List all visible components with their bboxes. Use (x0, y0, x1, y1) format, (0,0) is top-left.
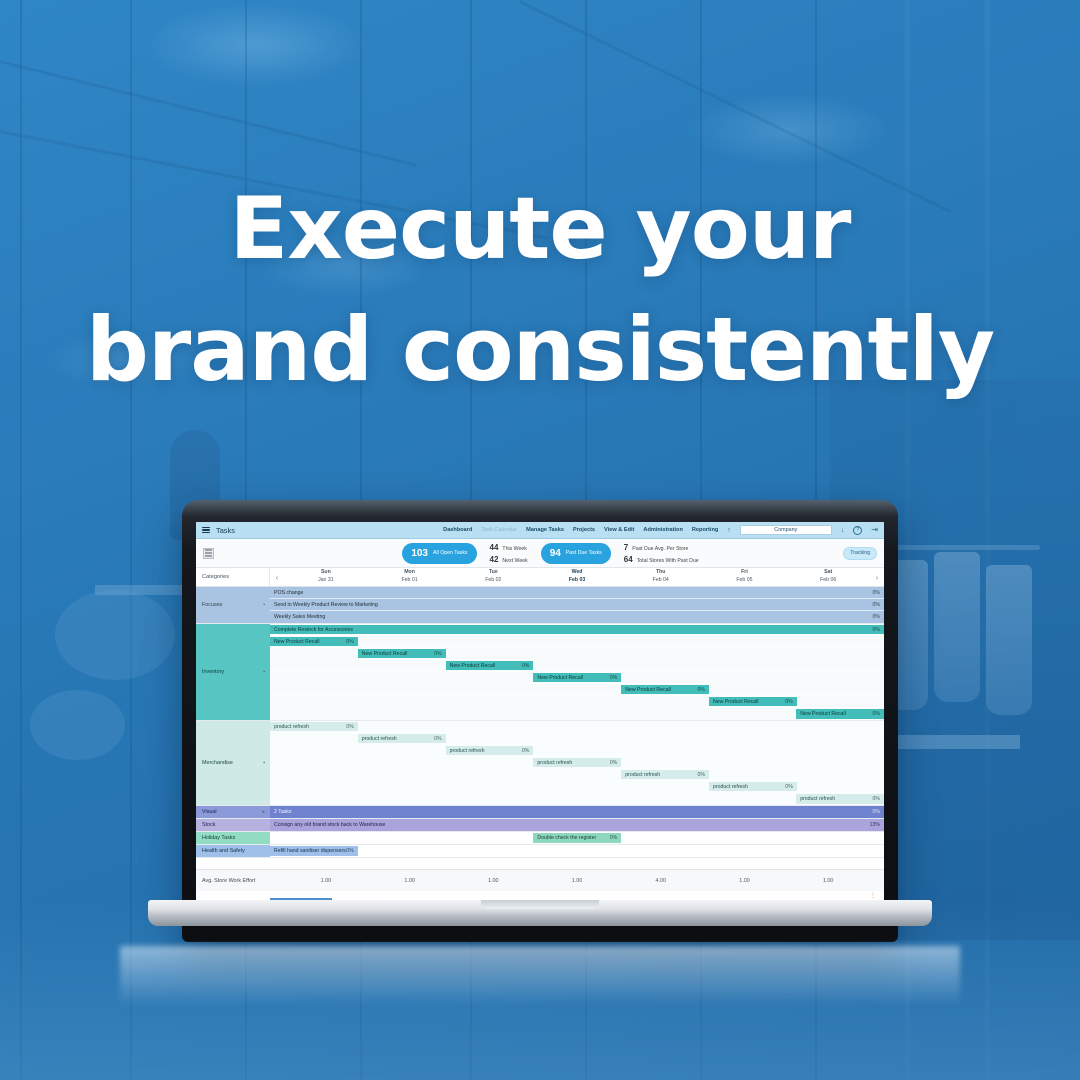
task-progress: 0% (873, 627, 881, 633)
kpi-total-stores-label: Total Stores With Past Due (637, 558, 699, 564)
info-marker-icon: ⋮ (870, 892, 876, 899)
category-expand-icon[interactable]: ▸ (262, 809, 265, 815)
task-lane: product refresh0% (270, 745, 884, 757)
day-name: Mon (404, 569, 415, 577)
day-headers: SunJan 31MonFeb 01TueFeb 02WedFeb 03ThuF… (284, 568, 870, 586)
task-label: Consign any old brand stock back to Ware… (274, 822, 385, 828)
task-bar[interactable]: POS change0% (270, 588, 884, 597)
task-lane: product refresh0% (270, 793, 884, 805)
task-bar[interactable]: product refresh0% (446, 746, 534, 755)
hamburger-icon[interactable] (202, 527, 210, 533)
kpi-next-week-label: Next Week (502, 558, 527, 564)
effort-values: 1.001.001.001.004.001.001.00 (284, 878, 870, 884)
task-progress: 0% (346, 639, 354, 645)
task-lane: New Product Recall0% (270, 708, 884, 720)
task-bar[interactable]: New Product Recall0% (446, 661, 534, 670)
category-expand-icon[interactable]: ▪ (263, 602, 265, 608)
kpi-week-stack: 44 This Week 42 Next Week (490, 543, 528, 564)
task-bar[interactable]: Consign any old brand stock back to Ware… (270, 820, 884, 830)
app-title: Tasks (216, 526, 235, 535)
nav-item-projects[interactable]: Projects (573, 527, 595, 533)
task-label: product refresh (450, 748, 485, 754)
task-label: New Product Recall (450, 663, 496, 669)
main-navigation: Dashboard Task Calendar Manage Tasks Pro… (443, 525, 878, 535)
category-name: Visual (202, 809, 217, 815)
task-bar[interactable]: Complete Restock for Accessories0% (270, 625, 884, 634)
day-header-wed[interactable]: WedFeb 03 (535, 568, 619, 586)
lane-group: Refill hand sanitiser dispensers0% (270, 845, 884, 857)
kpi-past-due-avg-value: 7 (624, 543, 628, 552)
category-name: Focuses (202, 602, 222, 608)
task-label: product refresh (274, 724, 309, 730)
category-row-health-and-safety: Health and SafetyRefill hand sanitiser d… (196, 845, 884, 858)
category-row-inventory: Inventory▪Complete Restock for Accessori… (196, 624, 884, 721)
day-header-sat[interactable]: SatFeb 06 (786, 568, 870, 586)
day-header-thu[interactable]: ThuFeb 04 (619, 568, 703, 586)
task-bar[interactable]: product refresh0% (358, 734, 446, 743)
effort-value: 1.00 (284, 878, 368, 884)
task-lane: Consign any old brand stock back to Ware… (270, 819, 884, 831)
kpi-this-week-value: 44 (490, 543, 499, 552)
chevron-left-icon[interactable]: ‹ (270, 568, 284, 586)
task-bar[interactable]: New Product Recall0% (796, 709, 884, 719)
category-label-health-and-safety[interactable]: Health and Safety (196, 845, 270, 857)
kpi-open-tasks-value: 103 (411, 548, 428, 559)
laptop-mockup: Tasks Dashboard Task Calendar Manage Tas… (182, 500, 898, 942)
task-label: Double check the register (537, 835, 596, 841)
laptop-reflection (120, 946, 960, 1006)
day-date: Feb 02 (485, 577, 501, 585)
kpi-open-tasks-label: All Open Tasks (433, 550, 468, 556)
day-name: Tue (489, 569, 498, 577)
arrow-down-icon[interactable]: ↓ (841, 527, 845, 534)
day-date: Feb 01 (402, 577, 418, 585)
laptop-base (148, 900, 932, 926)
task-progress: 0% (873, 590, 881, 596)
task-label: New Product Recall (274, 639, 320, 645)
categories-column-header: Categories (196, 568, 270, 586)
task-bar[interactable]: product refresh0% (796, 794, 884, 804)
day-name: Thu (656, 569, 666, 577)
app-header: Tasks Dashboard Task Calendar Manage Tas… (196, 522, 884, 539)
kpi-past-due-value: 94 (550, 548, 561, 559)
lane-group: Consign any old brand stock back to Ware… (270, 819, 884, 831)
task-label: Refill hand sanitiser dispensers (274, 848, 346, 854)
task-label: New Product Recall (713, 699, 759, 705)
chevron-right-icon[interactable]: › (870, 568, 884, 586)
lane-group: product refresh0%product refresh0%produc… (270, 721, 884, 805)
category-label-inventory[interactable]: Inventory▪ (196, 624, 270, 720)
kpi-total-stores: 64 Total Stores With Past Due (624, 555, 699, 564)
task-progress: 0% (785, 784, 793, 790)
day-date: Feb 03 (569, 577, 585, 585)
task-progress: 0% (785, 699, 793, 705)
task-bar[interactable]: Double check the register0% (533, 833, 621, 843)
day-header-sun[interactable]: SunJan 31 (284, 568, 368, 586)
laptop-screen: Tasks Dashboard Task Calendar Manage Tas… (196, 522, 884, 900)
effort-value: 1.00 (703, 878, 787, 884)
task-bar[interactable]: New Product Recall0% (709, 697, 797, 706)
task-lane: Send in Weekly Product Review to Marketi… (270, 599, 884, 611)
category-row-stock: StockConsign any old brand stock back to… (196, 819, 884, 832)
task-label: product refresh (362, 736, 397, 742)
task-label: New Product Recall (800, 711, 846, 717)
task-lane: New Product Recall0% (270, 684, 884, 696)
task-progress: 0% (698, 687, 706, 693)
day-name: Wed (572, 569, 583, 577)
headline-line-2: brand consistently (0, 289, 1080, 410)
task-bar[interactable]: product refresh0% (270, 722, 358, 731)
task-bar[interactable]: product refresh0% (533, 758, 621, 767)
category-name: Stock (202, 822, 215, 828)
page-title: Execute your brand consistently (0, 170, 1080, 410)
kpi-past-due-tasks[interactable]: 94 Past Due Tasks (541, 543, 611, 564)
arrow-up-icon[interactable]: ↑ (727, 527, 731, 534)
kpi-past-due-label: Past Due Tasks (566, 550, 602, 556)
lane-group: 2 Tasks0% (270, 806, 884, 818)
task-bar[interactable]: New Product Recall0% (358, 649, 446, 658)
question-mark-icon[interactable]: ? (853, 526, 862, 535)
effort-label: Avg. Store Work Effort (196, 878, 270, 884)
kpi-next-week: 42 Next Week (490, 555, 528, 564)
company-selector[interactable]: Company (740, 525, 832, 535)
nav-item-view-edit[interactable]: View & Edit (604, 527, 634, 533)
task-progress: 0% (610, 760, 618, 766)
kpi-past-due-avg-label: Past Due Avg. Per Store (632, 546, 688, 552)
day-header-mon[interactable]: MonFeb 01 (368, 568, 452, 586)
kpi-this-week-label: This Week (502, 546, 526, 552)
task-lane: product refresh0% (270, 721, 884, 733)
nav-item-dashboard[interactable]: Dashboard (443, 527, 472, 533)
category-row-holiday-tasks: Holiday TasksDouble check the register0% (196, 832, 884, 845)
task-lane: Weekly Sales Meeting0% (270, 611, 884, 623)
task-lane: New Product Recall0% (270, 636, 884, 648)
kpi-bar: 103 All Open Tasks 44 This Week 42 Next … (196, 539, 884, 568)
task-lane: POS change0% (270, 587, 884, 599)
laptop-lid: Tasks Dashboard Task Calendar Manage Tas… (182, 500, 898, 942)
category-name: Inventory (202, 669, 224, 675)
day-name: Fri (741, 569, 748, 577)
task-progress: 0% (873, 614, 881, 620)
task-progress: 0% (610, 675, 618, 681)
tracking-button[interactable]: Tracking (843, 547, 877, 560)
category-row-visual: Visual▸2 Tasks0% (196, 806, 884, 819)
task-label: Weekly Sales Meeting (274, 614, 325, 620)
task-bar[interactable]: 2 Tasks0% (270, 807, 884, 817)
task-bar[interactable]: product refresh0% (709, 782, 797, 791)
day-name: Sun (321, 569, 331, 577)
category-label-holiday-tasks[interactable]: Holiday Tasks (196, 832, 270, 844)
task-progress: 0% (872, 711, 880, 717)
task-lane: Double check the register0% (270, 832, 884, 844)
category-name: Merchandise (202, 760, 233, 766)
task-label: POS change (274, 590, 303, 596)
calendar-grid-icon[interactable] (203, 548, 214, 559)
task-bar[interactable]: New Product Recall0% (533, 673, 621, 682)
task-progress: 0% (346, 724, 354, 730)
day-date: Feb 05 (736, 577, 752, 585)
task-lane: product refresh0% (270, 757, 884, 769)
category-label-focuses[interactable]: Focuses▪ (196, 587, 270, 623)
task-label: New Product Recall (625, 687, 671, 693)
task-label: 2 Tasks (274, 809, 292, 815)
kpi-store-stack: 7 Past Due Avg. Per Store 64 Total Store… (624, 543, 699, 564)
task-label: product refresh (625, 772, 660, 778)
category-name: Holiday Tasks (202, 835, 235, 841)
task-lane: New Product Recall0% (270, 696, 884, 708)
kpi-next-week-value: 42 (490, 555, 499, 564)
task-progress: 0% (522, 663, 530, 669)
task-label: New Product Recall (537, 675, 583, 681)
effort-value: 1.00 (535, 878, 619, 884)
day-date: Feb 04 (653, 577, 669, 585)
task-label: product refresh (800, 796, 835, 802)
logout-icon[interactable]: ⇥ (871, 526, 878, 534)
lane-group: POS change0%Send in Weekly Product Revie… (270, 587, 884, 623)
nav-item-administration[interactable]: Administration (643, 527, 682, 533)
lane-group: Double check the register0% (270, 832, 884, 844)
category-expand-icon[interactable]: ▪ (263, 760, 265, 766)
category-label-stock[interactable]: Stock (196, 819, 270, 831)
nav-item-reporting[interactable]: Reporting (692, 527, 718, 533)
task-lane: Complete Restock for Accessories0% (270, 624, 884, 636)
kpi-group: 103 All Open Tasks 44 This Week 42 Next … (402, 543, 698, 564)
task-board: Focuses▪POS change0%Send in Weekly Produ… (196, 587, 884, 869)
effort-value: 1.00 (368, 878, 452, 884)
task-progress: 0% (873, 809, 881, 815)
task-calendar-app: Tasks Dashboard Task Calendar Manage Tas… (196, 522, 884, 900)
task-lane: product refresh0% (270, 781, 884, 793)
day-date: Feb 06 (820, 577, 836, 585)
calendar-header: Categories ‹ SunJan 31MonFeb 01TueFeb 02… (196, 568, 884, 587)
effort-value: 1.00 (786, 878, 870, 884)
task-progress: 0% (346, 848, 354, 854)
effort-value: 1.00 (451, 878, 535, 884)
task-progress: 0% (434, 651, 442, 657)
category-label-merchandise[interactable]: Merchandise▪ (196, 721, 270, 805)
day-header-tue[interactable]: TueFeb 02 (451, 568, 535, 586)
effort-value: 4.00 (619, 878, 703, 884)
task-bar[interactable]: Send in Weekly Product Review to Marketi… (270, 600, 884, 609)
kpi-past-due-avg: 7 Past Due Avg. Per Store (624, 543, 699, 552)
task-label: New Product Recall (362, 651, 408, 657)
nav-item-task-calendar[interactable]: Task Calendar (481, 527, 517, 533)
day-header-fri[interactable]: FriFeb 05 (703, 568, 787, 586)
kpi-all-open-tasks[interactable]: 103 All Open Tasks (402, 543, 476, 564)
task-bar[interactable]: product refresh0% (621, 770, 709, 779)
task-lane: 2 Tasks0% (270, 806, 884, 818)
task-bar[interactable]: Weekly Sales Meeting0% (270, 612, 884, 622)
task-lane: product refresh0% (270, 769, 884, 781)
task-progress: 0% (434, 736, 442, 742)
headline-line-1: Execute your (230, 179, 851, 279)
task-progress: 0% (522, 748, 530, 754)
task-progress: 0% (873, 602, 881, 608)
task-lane: New Product Recall0% (270, 648, 884, 660)
task-label: product refresh (713, 784, 748, 790)
category-name: Health and Safety (202, 848, 245, 854)
task-progress: 0% (698, 772, 706, 778)
lane-group: Complete Restock for Accessories0%New Pr… (270, 624, 884, 720)
task-bar[interactable]: New Product Recall0% (270, 637, 358, 646)
day-name: Sat (824, 569, 832, 577)
task-lane: Refill hand sanitiser dispensers0% (270, 845, 884, 857)
task-label: Complete Restock for Accessories (274, 627, 353, 633)
day-date: Jan 31 (318, 577, 334, 585)
kpi-total-stores-value: 64 (624, 555, 633, 564)
task-label: product refresh (537, 760, 572, 766)
task-bar[interactable]: New Product Recall0% (621, 685, 709, 694)
category-expand-icon[interactable]: ▪ (263, 669, 265, 675)
task-progress: 0% (872, 796, 880, 802)
kpi-this-week: 44 This Week (490, 543, 528, 552)
task-bar[interactable]: Refill hand sanitiser dispensers0% (270, 846, 358, 856)
category-row-merchandise: Merchandise▪product refresh0%product ref… (196, 721, 884, 806)
task-lane: New Product Recall0% (270, 660, 884, 672)
nav-item-manage-tasks[interactable]: Manage Tasks (526, 527, 564, 533)
effort-row: Avg. Store Work Effort 1.001.001.001.004… (196, 869, 884, 891)
task-progress: 13% (870, 822, 880, 828)
task-label: Send in Weekly Product Review to Marketi… (274, 602, 378, 608)
task-progress: 0% (610, 835, 618, 841)
category-label-visual[interactable]: Visual▸ (196, 806, 270, 818)
task-lane: New Product Recall0% (270, 672, 884, 684)
category-row-focuses: Focuses▪POS change0%Send in Weekly Produ… (196, 587, 884, 624)
task-lane: product refresh0% (270, 733, 884, 745)
